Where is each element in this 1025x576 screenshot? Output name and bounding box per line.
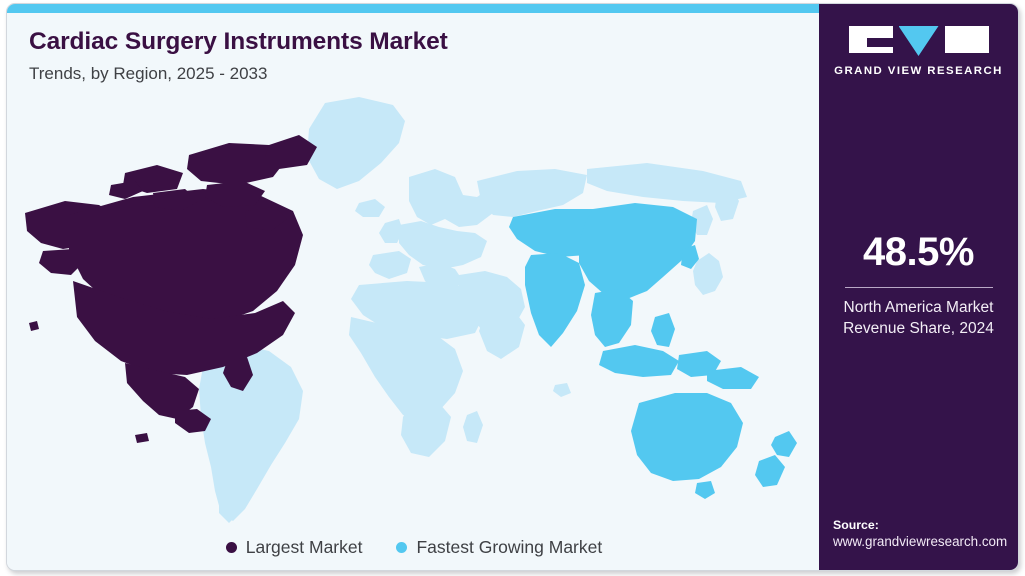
page-subtitle: Trends, by Region, 2025 - 2033 [29,64,448,84]
map-panel: Cardiac Surgery Instruments Market Trend… [7,13,821,571]
legend: Largest Market Fastest Growing Market [7,537,821,558]
legend-label-largest-market: Largest Market [246,537,363,558]
legend-label-fastest-growing-market: Fastest Growing Market [416,537,602,558]
legend-item-fastest-growing-market[interactable]: Fastest Growing Market [396,537,602,558]
world-map-svg [7,85,821,525]
top-accent-bar [7,4,821,13]
legend-swatch-largest-market [226,542,237,553]
source-block: Source: www.grandviewresearch.com [833,518,1007,549]
logo-letter-r-icon [945,26,989,53]
legend-swatch-fastest-growing-market [396,542,407,553]
stat-value: 48.5% [819,230,1018,275]
infographic-card: Cardiac Surgery Instruments Market Trend… [6,3,1019,571]
brand-logo[interactable]: GRAND VIEW RESEARCH [819,26,1018,77]
page-title: Cardiac Surgery Instruments Market [29,28,448,56]
source-url[interactable]: www.grandviewresearch.com [833,534,1007,549]
stat-caption-line-2: Revenue Share, 2024 [819,318,1018,339]
logo-letter-v-icon [899,26,939,56]
stat-caption-line-1: North America Market [819,297,1018,318]
logo-wordmark: GRAND VIEW RESEARCH [834,65,1003,77]
title-block: Cardiac Surgery Instruments Market Trend… [29,28,448,84]
world-map[interactable] [7,85,821,525]
map-layer-asia-pacific-fastest-growing [509,203,797,499]
legend-item-largest-market[interactable]: Largest Market [226,537,363,558]
stat-divider [845,287,993,288]
stat-block: 48.5% North America Market Revenue Share… [819,230,1018,340]
logo-marks [849,26,989,56]
sidebar-panel: GRAND VIEW RESEARCH 48.5% North America … [819,4,1018,571]
source-label: Source: [833,518,1007,532]
logo-letter-g-icon [849,26,893,53]
